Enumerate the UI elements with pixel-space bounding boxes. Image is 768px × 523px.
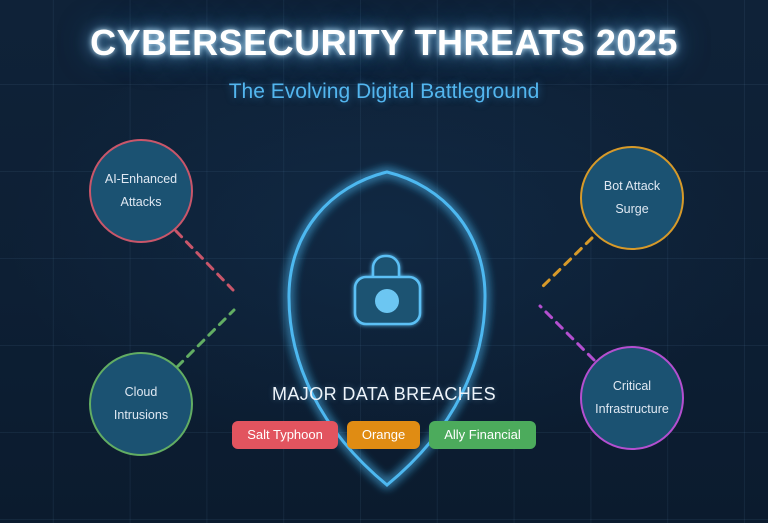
threat-node-label-line1: AI-Enhanced [105,168,177,191]
threat-node-ai-enhanced-attacks[interactable]: AI-Enhanced Attacks [89,139,193,243]
infographic-canvas: CYBERSECURITY THREATS 2025 The Evolving … [0,0,768,523]
page-title: CYBERSECURITY THREATS 2025 [0,22,768,64]
breach-badge-salt-typhoon[interactable]: Salt Typhoon [232,421,338,449]
threat-node-bot-attack-surge[interactable]: Bot Attack Surge [580,146,684,250]
page-subtitle: The Evolving Digital Battleground [0,80,768,104]
connector-critical-infrastructure [540,306,594,360]
breach-badge-orange[interactable]: Orange [347,421,420,449]
breach-badge-ally-financial[interactable]: Ally Financial [429,421,536,449]
lock-shackle [373,256,399,294]
connector-cloud-intrusions [177,310,234,367]
threat-node-label-line2: Attacks [121,191,162,214]
connector-bot-attack-surge [539,238,592,290]
breach-badge-list: Salt Typhoon Orange Ally Financial [0,421,768,449]
connector-ai-enhanced-attacks [176,231,233,290]
lock-keyhole [375,289,399,313]
lock-body [355,277,420,324]
breaches-heading: MAJOR DATA BREACHES [0,384,768,405]
threat-node-label-line1: Bot Attack [604,175,660,198]
threat-node-label-line2: Surge [615,198,648,221]
